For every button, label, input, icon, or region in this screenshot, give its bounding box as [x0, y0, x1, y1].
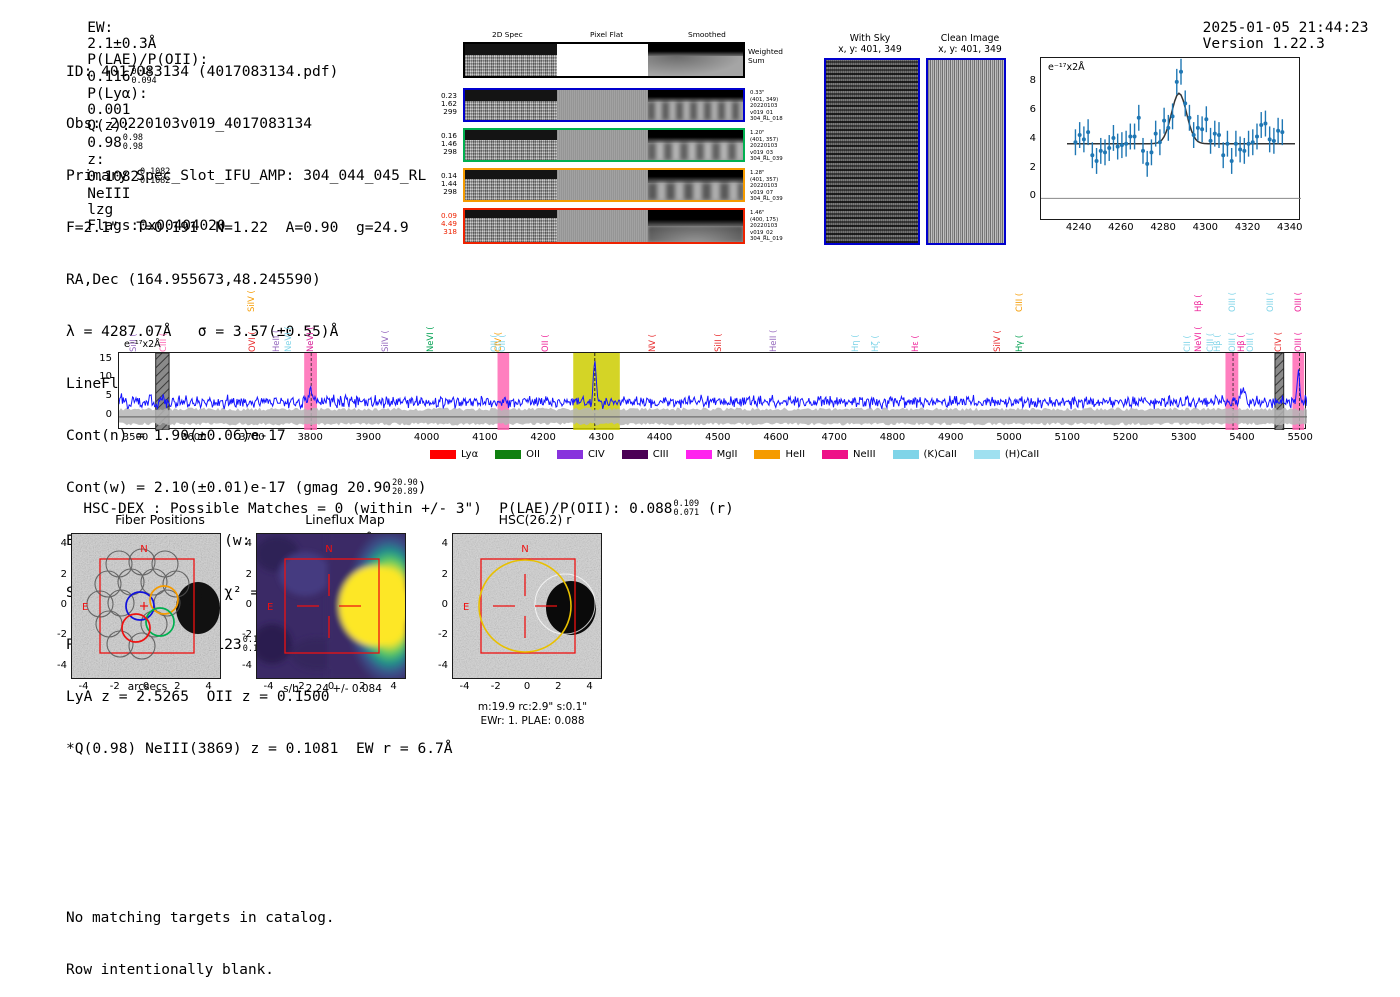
row-left-val: 299 — [425, 108, 457, 116]
row-right-val: 1.20" — [750, 130, 783, 137]
emission-line-label-civ: CIV ( — [1273, 316, 1283, 352]
profile-y-tick: 4 — [1012, 133, 1036, 144]
spectrum-x-tick: 4400 — [636, 432, 684, 443]
spectrum-x-tick: 4900 — [927, 432, 975, 443]
profile-x-tick: 4340 — [1268, 222, 1312, 233]
hsc-r-subcaption: m:19.9 rc:2.9" s:0.1" EWr: 1. PLAE: 0.08… — [440, 700, 625, 728]
row-right-val: v019_01 — [750, 110, 783, 117]
legend-label: HeII — [785, 449, 805, 460]
row-right-val: 20220103 — [750, 183, 783, 190]
lineflux-map-y-tick: 0 — [232, 599, 252, 610]
hsc-r-sub-line1: m:19.9 rc:2.9" s:0.1" — [440, 700, 625, 714]
row-right-val: (400, 175) — [750, 217, 783, 224]
lineflux-map-y-tick: -2 — [232, 629, 252, 640]
legend-item-neiii: NeIII — [822, 449, 875, 460]
hsc-r-x-tick: 0 — [511, 681, 543, 692]
legend-label: NeIII — [853, 449, 875, 460]
spectrum-y-tick: 5 — [86, 390, 112, 401]
version: Version 1.22.3 — [1203, 36, 1325, 52]
spectrum-y-tick: 0 — [86, 409, 112, 420]
fiber-positions-y-tick: 2 — [47, 569, 67, 580]
montage-col-title-2dspec: 2D Spec — [492, 30, 523, 39]
with-sky-title: With Sky x, y: 401, 349 — [820, 33, 920, 55]
spectrum-x-tick: 5400 — [1218, 432, 1266, 443]
montage-row-right-labels: 1.46" (400, 175) 20220103 v019_02 304_RL… — [750, 210, 783, 243]
profile-x-tick: 4300 — [1183, 222, 1227, 233]
emission-line-label-hγ: Hγ ( — [1014, 316, 1024, 352]
montage-row-3 — [463, 168, 745, 202]
fiber-positions-title: Fiber Positions — [65, 512, 255, 527]
legend-item-lyα: Lyα — [430, 449, 478, 460]
emission-line-label-hε: Hε ( — [910, 316, 920, 352]
profile-y-tick: 2 — [1012, 162, 1036, 173]
montage-row-4 — [463, 208, 745, 244]
profile-x-tick: 4280 — [1141, 222, 1185, 233]
profile-y-tick: 6 — [1012, 104, 1036, 115]
lineflux-map-y-tick: 4 — [232, 538, 252, 549]
info-line: Primary Spec_Slot_IFU_AMP: 304_044_045_R… — [66, 167, 453, 184]
weighted-sum-smoothed — [648, 44, 743, 76]
svg-text:N: N — [325, 544, 332, 555]
spectrum-legend: LyαOIICIVCIIIMgIIHeIINeIII(K)CaII(H)CaII — [430, 449, 1039, 460]
hsc-dex-tail: (r) — [708, 501, 734, 517]
legend-item-hcaii: (H)CaII — [974, 449, 1039, 460]
info-line: ID: 4017083134 (4017083134.pdf) — [66, 63, 453, 80]
footer-line1: No matching targets in catalog. — [66, 910, 335, 927]
hsc-r-y-tick: 4 — [428, 538, 448, 549]
emission-line-label-hβ: Hβ ( — [1193, 278, 1203, 312]
legend-swatch — [557, 450, 583, 459]
2d-spectrum-montage: 2D Spec Pixel Flat Smoothed Weighted Sum… — [430, 30, 790, 255]
legend-label: MgII — [717, 449, 738, 460]
legend-swatch — [495, 450, 521, 459]
legend-swatch — [974, 450, 1000, 459]
hsc-r-x-tick: -2 — [480, 681, 512, 692]
legend-item-oii: OII — [495, 449, 540, 460]
emission-line-label-oiii: OIII ( — [1227, 278, 1237, 312]
hsc-r-x-tick: 4 — [574, 681, 606, 692]
row-right-val: (401, 349) — [750, 97, 783, 104]
legend-swatch — [754, 450, 780, 459]
legend-swatch — [893, 450, 919, 459]
montage-row-right-labels: 1.28" (401, 357) 20220103 v019_07 304_RL… — [750, 170, 783, 203]
row-right-val: 0.33" — [750, 90, 783, 97]
legend-swatch — [686, 450, 712, 459]
row-right-val: 304_RL_018 — [750, 116, 783, 123]
emission-line-label-oiii: OIII ( — [1265, 278, 1275, 312]
profile-flux-unit: e⁻¹⁷x2Å — [1048, 62, 1085, 73]
footer-line2: Row intentionally blank. — [66, 962, 335, 979]
profile-x-tick: 4260 — [1099, 222, 1143, 233]
row-right-val: 304_RL_039 — [750, 196, 783, 203]
clean-image-label: Clean Image — [915, 33, 1025, 44]
fiber-positions-x-tick: -4 — [68, 681, 100, 692]
hsc-r-y-tick: 2 — [428, 569, 448, 580]
row-left-val: 298 — [425, 148, 457, 156]
legend-item-heii: HeII — [754, 449, 805, 460]
montage-row-right-labels: 0.33" (401, 349) 20220103 v019_01 304_RL… — [750, 90, 783, 123]
spectrum-x-tick: 3800 — [286, 432, 334, 443]
profile-y-tick: 8 — [1012, 75, 1036, 86]
lineflux-map-x-tick: 4 — [378, 681, 410, 692]
emission-line-label-siiv: SiIV ( — [246, 278, 256, 312]
emission-line-label-nevi: NeVI ( — [1193, 316, 1203, 352]
montage-row-weighted-sum — [463, 42, 745, 78]
fiber-positions-x-tick: 4 — [193, 681, 225, 692]
hsc-r-image: N E — [452, 533, 602, 679]
svg-text:E: E — [463, 602, 469, 613]
row-right-val: (401, 357) — [750, 137, 783, 144]
lineflux-map-x-tick: 0 — [315, 681, 347, 692]
emission-line-label-cii: CII ( — [1182, 316, 1192, 352]
legend-item-civ: CIV — [557, 449, 605, 460]
legend-label: (K)CaII — [924, 449, 957, 460]
with-sky-image — [824, 58, 920, 245]
fiber-positions-x-tick: -2 — [99, 681, 131, 692]
info-line: F=2.1" T=0.191 N=1.22 A=0.90 g=24.9 — [66, 219, 453, 236]
spectrum-x-tick: 3900 — [344, 432, 392, 443]
hsc-r-y-tick: 0 — [428, 599, 448, 610]
emission-line-label-siii: SiII ( — [713, 316, 723, 352]
emission-line-label-heii: HeII ( — [768, 316, 778, 352]
emission-line-label-oiii: OIII ( — [1293, 316, 1303, 352]
with-sky-label: With Sky — [820, 33, 920, 44]
emission-line-label-siiv: SiIV ( — [992, 316, 1002, 352]
spectrum-x-tick: 4300 — [577, 432, 625, 443]
legend-item-ciii: CIII — [622, 449, 669, 460]
row-right-val: 304_RL_019 — [750, 236, 783, 243]
row-left-val: 318 — [425, 228, 457, 236]
legend-item-kcaii: (K)CaII — [893, 449, 957, 460]
spectrum-x-tick: 4100 — [461, 432, 509, 443]
info-line: Obs: 20220103v019_4017083134 — [66, 115, 453, 132]
emission-line-label-ovi: OVI ( — [247, 316, 257, 352]
row-right-val: v019_03 — [750, 150, 783, 157]
legend-swatch — [822, 450, 848, 459]
montage-row-1 — [463, 88, 745, 122]
svg-text:E: E — [82, 602, 88, 613]
footer-note: No matching targets in catalog. Row inte… — [66, 875, 335, 997]
hsc-r-sub-line2: EWr: 1. PLAE: 0.088 — [440, 714, 625, 728]
weighted-sum-pixelflat — [557, 44, 649, 76]
hsc-r-x-tick: 2 — [542, 681, 574, 692]
emission-line-label-oiii: OIII ( — [1245, 316, 1255, 352]
montage-row-left-labels: 0.14 1.44 298 — [425, 172, 457, 196]
emission-line-label-nevi: NeVI ( — [283, 316, 293, 352]
emission-line-label-hζ: Hζ ( — [870, 316, 880, 352]
weighted-sum-2dspec — [465, 44, 557, 76]
emission-line-label-heii: HeII ( — [271, 316, 281, 352]
legend-label: CIV — [588, 449, 605, 460]
profile-x-tick: 4320 — [1226, 222, 1270, 233]
fiber-positions-y-tick: -4 — [47, 660, 67, 671]
emission-line-label-nevi: NeVI ( — [425, 316, 435, 352]
svg-text:N: N — [521, 544, 528, 555]
fiber-positions-x-tick: 0 — [130, 681, 162, 692]
row-right-val: 1.28" — [750, 170, 783, 177]
lineflux-map-x-tick: -2 — [284, 681, 316, 692]
spectrum-x-tick: 4000 — [403, 432, 451, 443]
montage-row-2 — [463, 128, 745, 162]
row-right-val: v019_02 — [750, 230, 783, 237]
spectrum-x-tick: 3500 — [111, 432, 159, 443]
spectrum-x-tick: 4200 — [519, 432, 567, 443]
row-right-val: 20220103 — [750, 103, 783, 110]
emission-line-label-ciii: CIII ( — [1014, 278, 1024, 312]
legend-swatch — [622, 450, 648, 459]
svg-text:N: N — [140, 544, 147, 555]
weighted-sum-label: Weighted Sum — [748, 48, 783, 65]
emission-line-label-oii: OII ( — [540, 316, 550, 352]
emission-line-label-oii: OII ( — [497, 316, 507, 352]
line-profile-chart — [1040, 57, 1300, 220]
spectrum-y-tick: 15 — [86, 353, 112, 364]
row-right-val: 20220103 — [750, 143, 783, 150]
montage-row-left-labels: 0.09 4.49 318 — [425, 212, 457, 236]
hsc-r-y-tick: -4 — [428, 660, 448, 671]
spectrum-x-tick: 3600 — [170, 432, 218, 443]
spectrum-x-tick: 5000 — [985, 432, 1033, 443]
hsc-r-title: HSC(26.2) r — [440, 512, 630, 527]
emission-line-label-oiii: OIII ( — [1293, 278, 1303, 312]
row-right-val: 20220103 — [750, 223, 783, 230]
hsc-r-x-tick: -4 — [449, 681, 481, 692]
info-line: RA,Dec (164.955673,48.245590) — [66, 271, 453, 288]
spectrum-x-tick: 5300 — [1160, 432, 1208, 443]
emission-line-label-nv: NV ( — [647, 316, 657, 352]
spectrum-x-tick: 4500 — [694, 432, 742, 443]
montage-row-right-labels: 1.20" (401, 357) 20220103 v019_03 304_RL… — [750, 130, 783, 163]
spectrum-x-tick: 5500 — [1276, 432, 1324, 443]
legend-item-mgii: MgII — [686, 449, 738, 460]
timestamp: 2025-01-05 21:44:23 — [1203, 20, 1369, 36]
fiber-positions-y-tick: -2 — [47, 629, 67, 640]
spectrum-x-tick: 4800 — [869, 432, 917, 443]
lineflux-map-title: Lineflux Map — [250, 512, 440, 527]
legend-label: OII — [526, 449, 540, 460]
lineflux-map-image: N E — [256, 533, 406, 679]
profile-x-tick: 4240 — [1057, 222, 1101, 233]
spectrum-x-tick: 4700 — [810, 432, 858, 443]
emission-line-label-nevi: NeVI ( — [305, 316, 315, 352]
lineflux-map-x-tick: -4 — [253, 681, 285, 692]
lineflux-map-y-tick: -4 — [232, 660, 252, 671]
info-line: λ = 4287.07Å σ = 3.57(±0.55)Å — [66, 323, 453, 340]
montage-col-title-smoothed: Smoothed — [688, 30, 726, 39]
spectrum-x-tick: 4600 — [752, 432, 800, 443]
weighted-sum-line2: Sum — [748, 57, 783, 66]
emission-line-label-hβ: Hβ ( — [1212, 316, 1222, 352]
row-right-val: v019_07 — [750, 190, 783, 197]
emission-line-label-siiv: SiIV ( — [380, 316, 390, 352]
clean-image-image — [926, 58, 1006, 245]
spectrum-x-tick: 5200 — [1101, 432, 1149, 443]
fiber-positions-x-tick: 2 — [161, 681, 193, 692]
hsc-r-y-tick: -2 — [428, 629, 448, 640]
fiber-positions-y-tick: 4 — [47, 538, 67, 549]
spectrum-x-tick: 3700 — [228, 432, 276, 443]
profile-y-tick: 0 — [1012, 190, 1036, 201]
row-right-val: 304_RL_039 — [750, 156, 783, 163]
timestamp-version: 2025-01-05 21:44:23 Version 1.22.3 — [1185, 4, 1386, 52]
spectrum-y-tick: 10 — [86, 371, 112, 382]
montage-row-left-labels: 0.23 1.62 299 — [425, 92, 457, 116]
legend-swatch — [430, 450, 456, 459]
lineflux-map-y-tick: 2 — [232, 569, 252, 580]
row-left-val: 298 — [425, 188, 457, 196]
q-line: *Q(0.98) NeIII(3869) z = 0.1081 EW r = 6… — [66, 740, 453, 757]
row-right-val: (401, 357) — [750, 177, 783, 184]
legend-label: Lyα — [461, 449, 478, 460]
hsc-dex-lo: 0.071 — [673, 508, 699, 518]
with-sky-coords: x, y: 401, 349 — [820, 44, 920, 55]
spectrum-x-tick: 5100 — [1043, 432, 1091, 443]
legend-label: CIII — [653, 449, 669, 460]
montage-row-left-labels: 0.16 1.46 298 — [425, 132, 457, 156]
fiber-positions-y-tick: 0 — [47, 599, 67, 610]
row-right-val: 1.46" — [750, 210, 783, 217]
clean-image-title: Clean Image x, y: 401, 349 — [915, 33, 1025, 55]
fiber-positions-image: N E — [71, 533, 221, 679]
full-spectrum-chart — [118, 352, 1306, 429]
emission-line-label-hη: Hη ( — [850, 316, 860, 352]
clean-image-coords: x, y: 401, 349 — [915, 44, 1025, 55]
lineflux-map-x-tick: 2 — [346, 681, 378, 692]
montage-col-title-pixelflat: Pixel Flat — [590, 30, 623, 39]
svg-text:E: E — [267, 602, 273, 613]
legend-label: (H)CaII — [1005, 449, 1039, 460]
spectrum-flux-unit: e⁻¹⁷x2Å — [124, 339, 161, 350]
